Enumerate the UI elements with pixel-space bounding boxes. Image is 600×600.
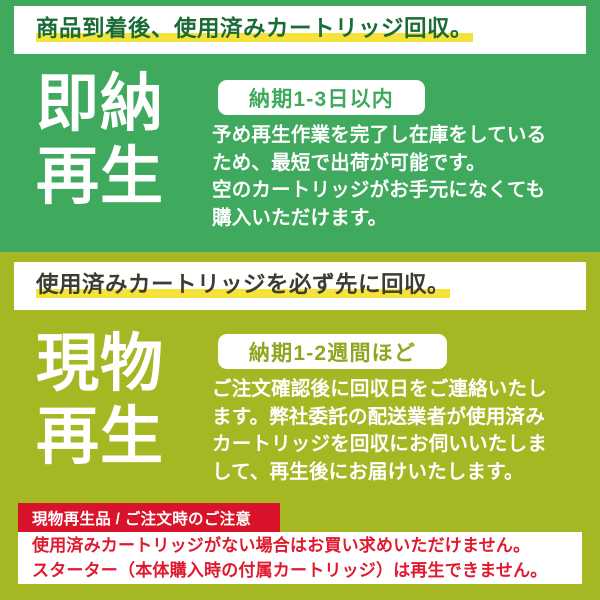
- promo-poster: 商品到着後、使用済みカートリッジ回収。 即納 再生 納期1-3日以内 予め再生作…: [0, 0, 600, 600]
- notice-line-2: スターター（本体購入時の付属カートリッジ）は再生できません。: [32, 558, 582, 584]
- badge-lead-time-physical: 納期1-2週間ほど: [218, 334, 447, 369]
- notice-banner-label: 現物再生品 / ご注文時のご注意: [32, 507, 251, 529]
- section-body-instant: 予め再生作業を完了し在庫をしている ため、最短で出荷が可能です。 空のカートリッ…: [212, 122, 592, 233]
- section-label-physical: 現物 再生: [36, 328, 164, 474]
- section-body-physical: ご注文確認後に回収日をご連絡いたし ます。弊社委託の配送業者が使用済み カートリ…: [212, 376, 592, 487]
- notice-box: 使用済みカートリッジがない場合はお買い求めいただけません。 スターター（本体購入…: [18, 532, 582, 584]
- section-physical-recycle: 使用済みカートリッジを必ず先に回収。 現物 再生 納期1-2週間ほど ご注文確認…: [0, 252, 600, 600]
- section-header-instant: 商品到着後、使用済みカートリッジ回収。: [36, 18, 473, 42]
- section-instant-restock: 商品到着後、使用済みカートリッジ回収。 即納 再生 納期1-3日以内 予め再生作…: [0, 0, 600, 252]
- notice-line-1: 使用済みカートリッジがない場合はお買い求めいただけません。: [32, 533, 582, 559]
- section-label-instant: 即納 再生: [36, 68, 164, 214]
- section-header-plate-physical: 使用済みカートリッジを必ず先に回収。: [14, 262, 586, 310]
- notice-banner: 現物再生品 / ご注文時のご注意: [18, 503, 280, 532]
- badge-lead-time-instant: 納期1-3日以内: [218, 80, 425, 115]
- section-header-physical: 使用済みカートリッジを必ず先に回収。: [36, 274, 450, 298]
- section-header-plate-instant: 商品到着後、使用済みカートリッジ回収。: [14, 6, 586, 54]
